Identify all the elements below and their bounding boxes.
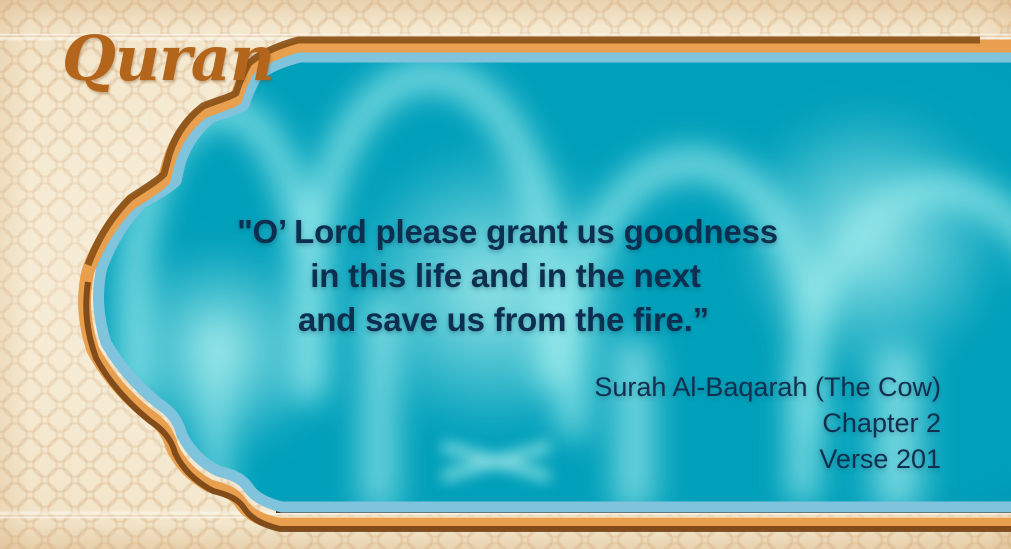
top-border-rail [292, 41, 1011, 52]
verse-quote-text: "O’ Lord please grant us goodness in thi… [0, 210, 945, 343]
quran-logo-text: Quran [62, 22, 274, 95]
verse-line: and save us from the fire.” [0, 298, 945, 342]
attribution-verse: Verse 201 [594, 442, 941, 478]
verse-line: in this life and in the next [0, 254, 945, 298]
bottom-border-rail [276, 502, 1011, 513]
verse-attribution: Surah Al-Baqarah (The Cow) Chapter 2 Ver… [594, 370, 941, 478]
attribution-chapter: Chapter 2 [594, 406, 941, 442]
quran-verse-card: Quran "O’ Lord please grant us goodness … [0, 0, 1011, 549]
verse-line: "O’ Lord please grant us goodness [0, 210, 945, 254]
attribution-surah: Surah Al-Baqarah (The Cow) [594, 370, 941, 406]
